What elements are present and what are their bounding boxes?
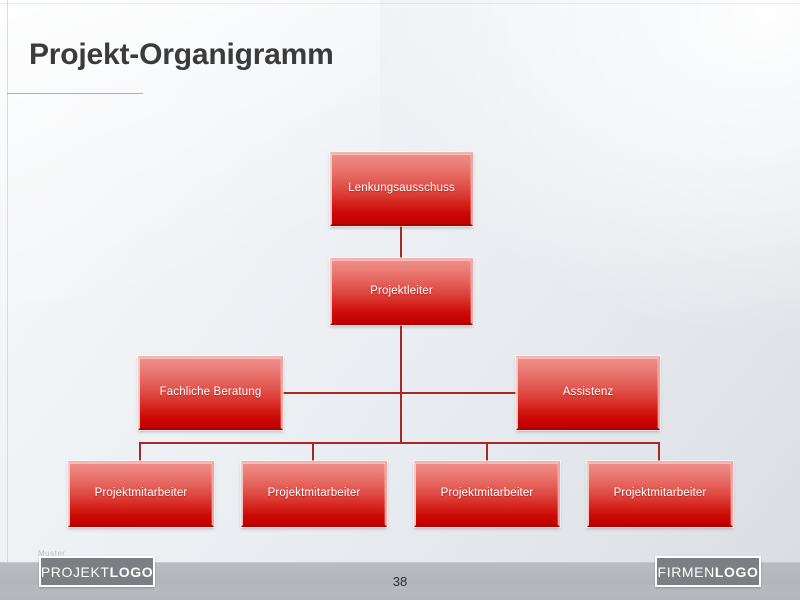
connector-to-assistenz (400, 392, 517, 394)
org-node-projektleiter[interactable]: Projektleiter (330, 258, 473, 325)
org-node-label: Projektmitarbeiter (614, 487, 707, 501)
page-title: Projekt-Organigramm (29, 38, 334, 72)
project-logo-text-bold: LOGO (110, 564, 154, 580)
connector-drop-mitarbeiter-2 (312, 442, 314, 462)
project-logo-placeholder[interactable]: PROJEKTLOGO (39, 556, 155, 587)
connector-lenkungsausschuss-to-projektleiter (400, 226, 402, 259)
org-node-label: Fachliche Beratung (160, 386, 262, 400)
org-node-lenkungsausschuss[interactable]: Lenkungsausschuss (330, 152, 473, 226)
connector-drop-mitarbeiter-3 (486, 442, 488, 462)
company-logo-text-bold: LOGO (715, 564, 759, 580)
org-node-label: Lenkungsausschuss (348, 182, 455, 196)
org-node-fachliche-beratung[interactable]: Fachliche Beratung (138, 356, 283, 430)
org-node-label: Projektleiter (370, 285, 433, 299)
slide-frame-top-edge (0, 3, 800, 4)
org-node-assistenz[interactable]: Assistenz (516, 356, 660, 430)
slide-frame-left-edge (7, 0, 8, 600)
company-logo-text-normal: FIRMEN (658, 564, 715, 580)
connector-drop-mitarbeiter-1 (139, 442, 141, 462)
org-node-label: Projektmitarbeiter (441, 487, 534, 501)
org-node-projektmitarbeiter-3[interactable]: Projektmitarbeiter (414, 461, 560, 527)
org-node-label: Projektmitarbeiter (95, 487, 188, 501)
slide-canvas: Projekt-Organigramm Lenkungsausschuss Pr… (0, 0, 800, 600)
company-logo-placeholder[interactable]: FIRMENLOGO (655, 556, 761, 587)
org-node-label: Projektmitarbeiter (268, 487, 361, 501)
connector-to-fachliche-beratung (283, 392, 401, 394)
connector-drop-mitarbeiter-4 (658, 442, 660, 462)
title-underline-rule (7, 93, 143, 94)
connector-projektleiter-trunk (400, 325, 402, 444)
project-logo-text-normal: PROJEKT (41, 564, 110, 580)
org-node-label: Assistenz (563, 386, 614, 400)
org-node-projektmitarbeiter-2[interactable]: Projektmitarbeiter (241, 461, 387, 527)
org-node-projektmitarbeiter-4[interactable]: Projektmitarbeiter (587, 461, 733, 527)
org-node-projektmitarbeiter-1[interactable]: Projektmitarbeiter (68, 461, 214, 527)
connector-bus-projektmitarbeiter (139, 442, 660, 444)
